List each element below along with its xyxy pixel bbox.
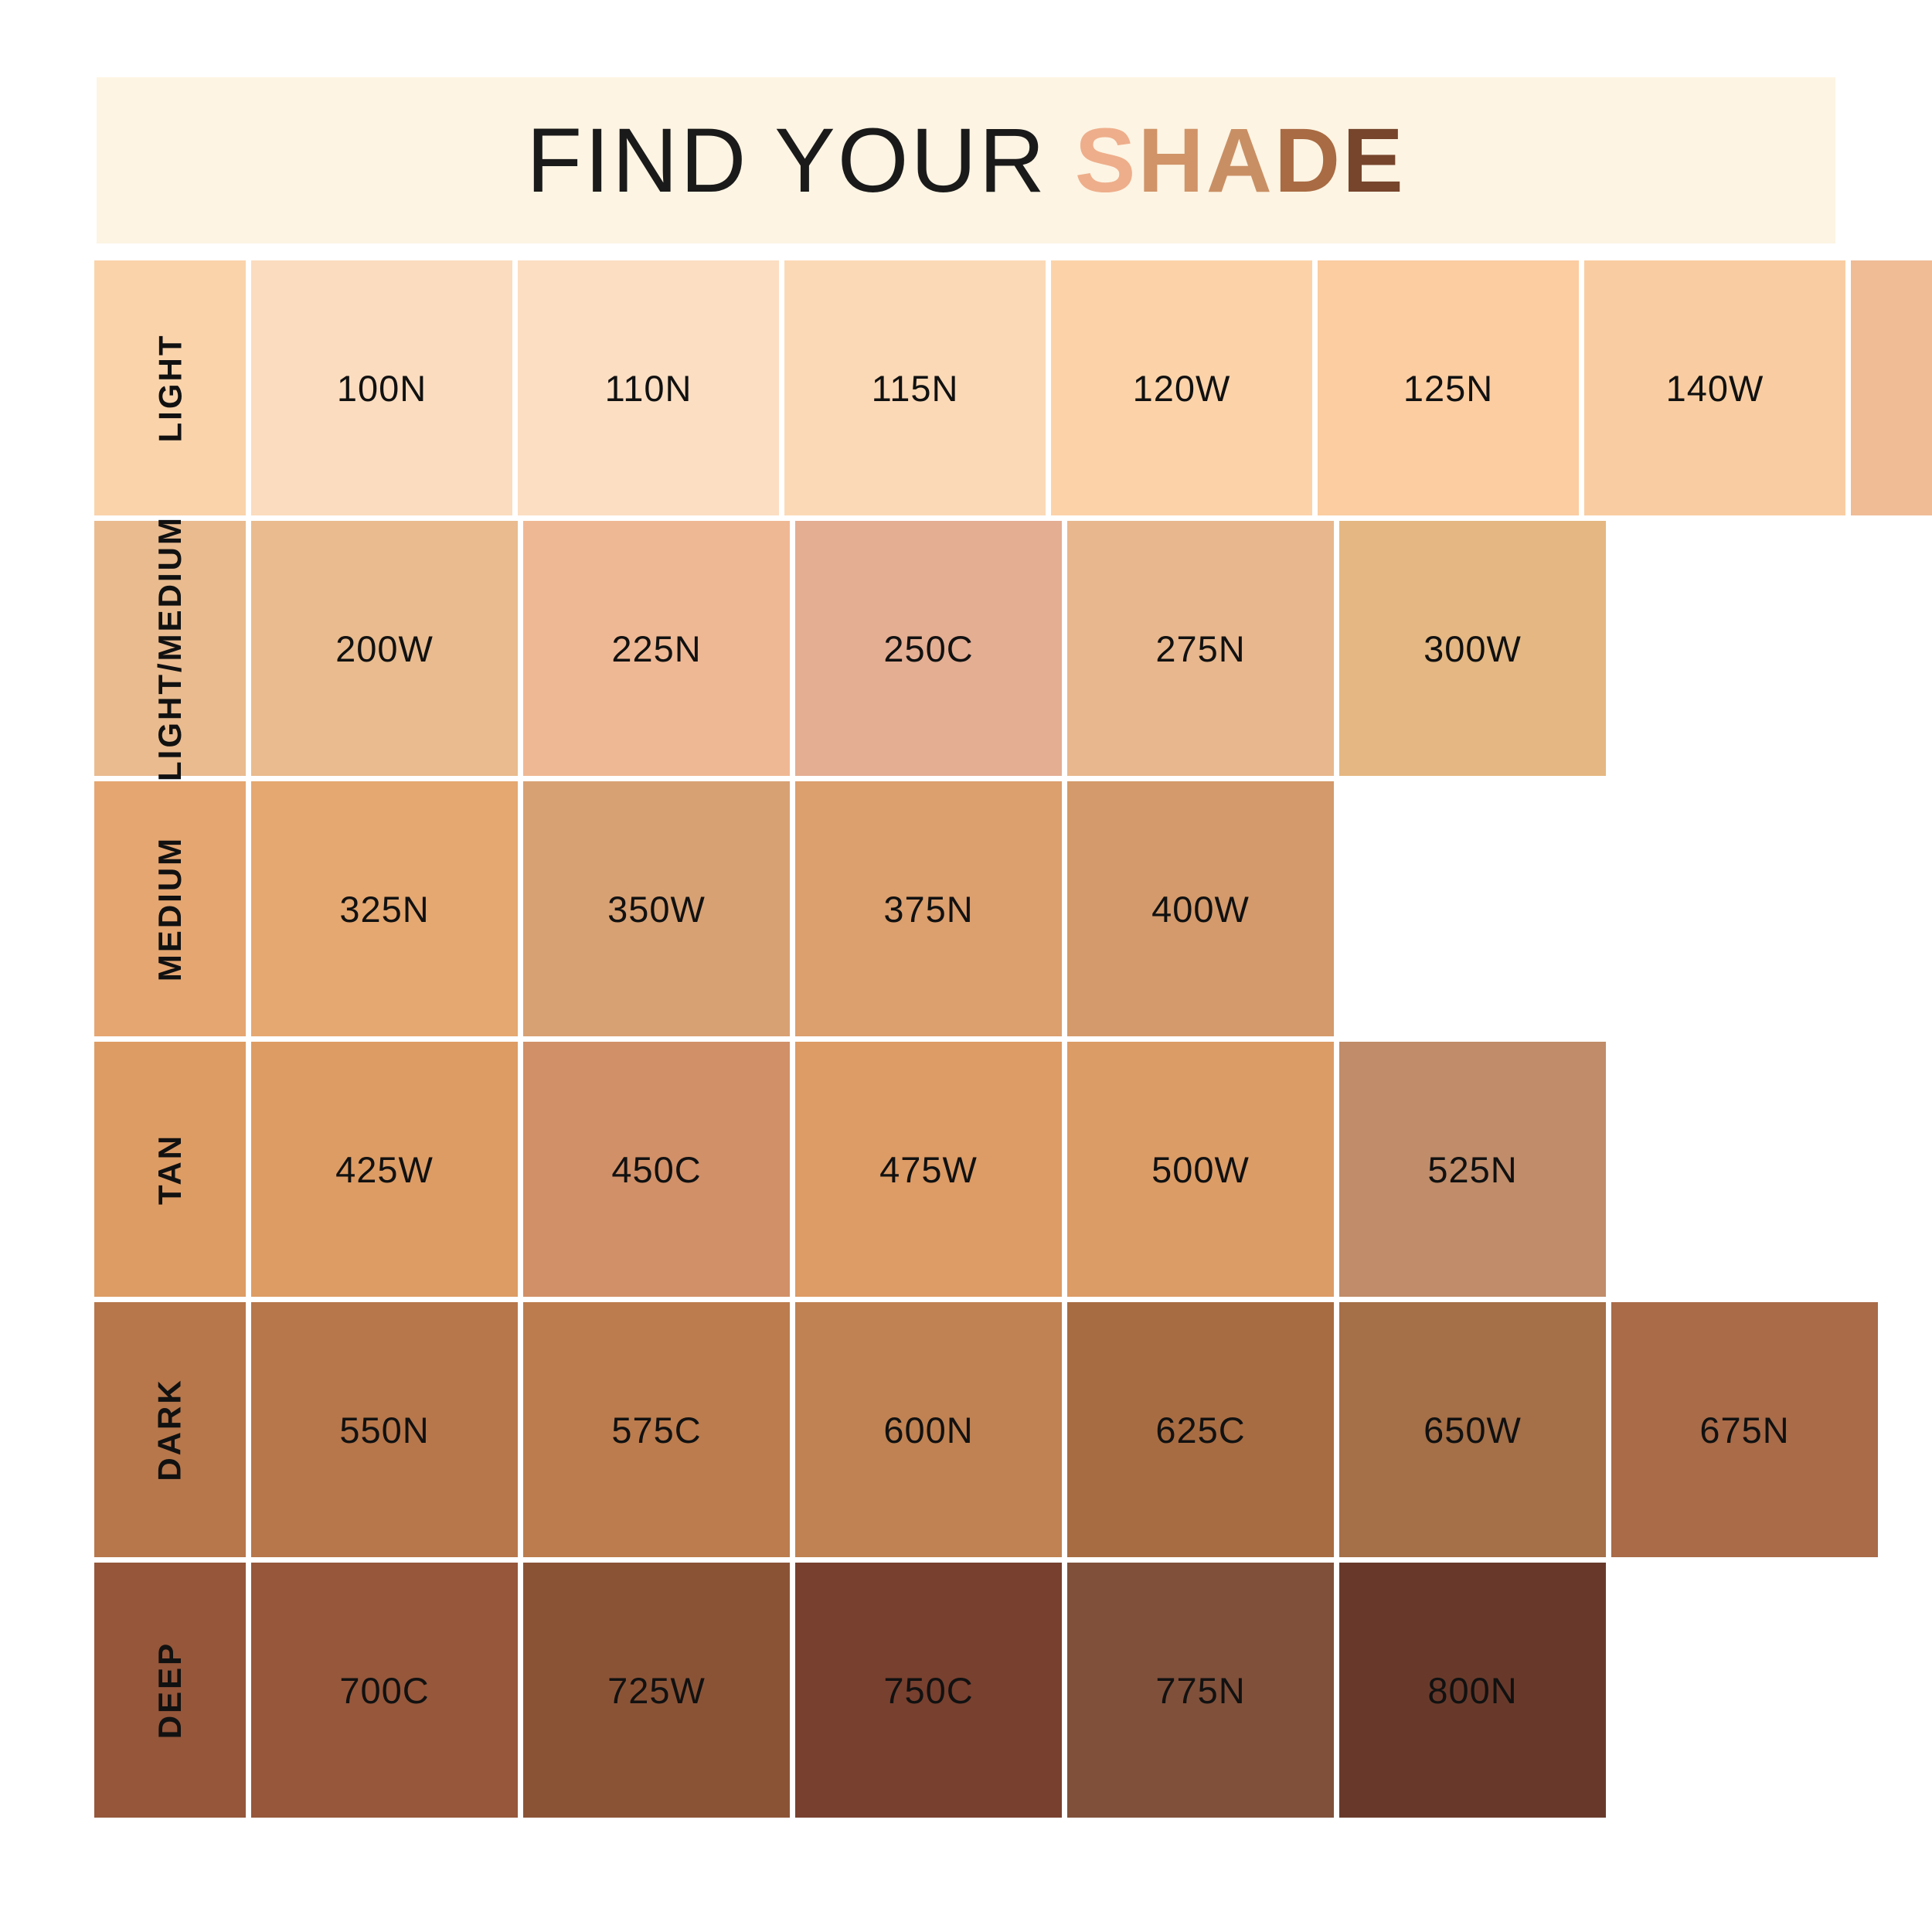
title-letter-d: D bbox=[1274, 110, 1342, 212]
shade-code: 425W bbox=[335, 1148, 434, 1191]
shade-swatch[interactable]: 775N bbox=[1067, 1563, 1334, 1818]
shade-code: 400W bbox=[1151, 888, 1250, 930]
shade-code: 140W bbox=[1666, 367, 1764, 410]
shade-code: 650W bbox=[1423, 1409, 1522, 1451]
shade-swatch[interactable]: 140W bbox=[1584, 260, 1845, 515]
shade-code: 625C bbox=[1155, 1409, 1245, 1451]
row-label-dark: DARK bbox=[94, 1302, 246, 1557]
shade-swatch[interactable]: 350W bbox=[523, 781, 790, 1036]
shade-row: TAN425W450C475W500W525N bbox=[94, 1042, 1932, 1297]
shade-code: 100N bbox=[337, 367, 427, 410]
shade-code: 225N bbox=[611, 628, 701, 670]
shade-code: 115N bbox=[872, 367, 959, 410]
shade-swatch[interactable]: 700C bbox=[251, 1563, 518, 1818]
shade-code: 750C bbox=[883, 1669, 973, 1712]
title-letter-e: E bbox=[1342, 110, 1406, 212]
shade-code: 600N bbox=[883, 1409, 973, 1451]
row-label-medium: MEDIUM bbox=[94, 781, 246, 1036]
shade-row: LIGHT100N110N115N120W125N140W150W175C bbox=[94, 260, 1932, 515]
shade-swatch[interactable]: 675N bbox=[1611, 1302, 1878, 1557]
shade-swatch[interactable]: 110N bbox=[518, 260, 779, 515]
row-label-text: DARK bbox=[151, 1378, 189, 1481]
shade-swatch[interactable]: 120W bbox=[1051, 260, 1312, 515]
shade-code: 125N bbox=[1403, 367, 1493, 410]
shade-swatch[interactable]: 425W bbox=[251, 1042, 518, 1297]
shade-swatch[interactable]: 475W bbox=[795, 1042, 1062, 1297]
shade-swatch[interactable]: 375N bbox=[795, 781, 1062, 1036]
title-letter-a: A bbox=[1206, 110, 1274, 212]
page-title-accent: SHADE bbox=[1075, 110, 1406, 212]
shade-code: 110N bbox=[605, 367, 692, 410]
shade-swatch[interactable]: 725W bbox=[523, 1563, 790, 1818]
shade-swatch[interactable]: 300W bbox=[1339, 521, 1606, 776]
row-label-text: TAN bbox=[151, 1134, 189, 1205]
shade-code: 525N bbox=[1427, 1148, 1517, 1191]
shade-swatch[interactable]: 450C bbox=[523, 1042, 790, 1297]
shade-code: 450C bbox=[611, 1148, 701, 1191]
shade-swatch[interactable]: 550N bbox=[251, 1302, 518, 1557]
shade-swatch[interactable]: 115N bbox=[784, 260, 1046, 515]
shade-code: 800N bbox=[1427, 1669, 1517, 1712]
shade-swatch[interactable]: 250C bbox=[795, 521, 1062, 776]
shade-code: 325N bbox=[339, 888, 429, 930]
shade-swatch[interactable]: 500W bbox=[1067, 1042, 1334, 1297]
shade-swatch[interactable]: 650W bbox=[1339, 1302, 1606, 1557]
shade-swatch[interactable]: 800N bbox=[1339, 1563, 1606, 1818]
shade-code: 120W bbox=[1133, 367, 1231, 410]
row-label-text: DEEP bbox=[151, 1641, 189, 1739]
shade-row: MEDIUM325N350W375N400W bbox=[94, 781, 1932, 1036]
title-letter-h: H bbox=[1138, 110, 1206, 212]
shade-code: 475W bbox=[879, 1148, 978, 1191]
shade-row: LIGHT/MEDIUM200W225N250C275N300W bbox=[94, 521, 1932, 776]
shade-row: DARK550N575C600N625C650W675N bbox=[94, 1302, 1932, 1557]
title-letter-s: S bbox=[1075, 110, 1138, 212]
shade-swatch[interactable]: 100N bbox=[251, 260, 512, 515]
page-title: FIND YOUR SHADE bbox=[526, 115, 1406, 206]
shade-grid: LIGHT100N110N115N120W125N140W150W175CLIG… bbox=[94, 260, 1932, 1823]
shade-code: 575C bbox=[611, 1409, 701, 1451]
title-banner: FIND YOUR SHADE bbox=[97, 77, 1835, 243]
shade-swatch[interactable]: 750C bbox=[795, 1563, 1062, 1818]
shade-code: 250C bbox=[883, 628, 973, 670]
row-label-text: LIGHT bbox=[151, 334, 189, 443]
shade-swatch[interactable]: 275N bbox=[1067, 521, 1334, 776]
shade-code: 375N bbox=[883, 888, 973, 930]
shade-chart-page: FIND YOUR SHADE LIGHT100N110N115N120W125… bbox=[0, 0, 1932, 1932]
shade-code: 200W bbox=[335, 628, 434, 670]
shade-swatch[interactable]: 625C bbox=[1067, 1302, 1334, 1557]
shade-swatch[interactable]: 525N bbox=[1339, 1042, 1606, 1297]
row-label-deep: DEEP bbox=[94, 1563, 246, 1818]
shade-swatch[interactable]: 125N bbox=[1318, 260, 1579, 515]
shade-swatch[interactable]: 400W bbox=[1067, 781, 1334, 1036]
shade-swatch[interactable]: 150W bbox=[1851, 260, 1932, 515]
row-label-light: LIGHT bbox=[94, 260, 246, 515]
shade-swatch[interactable]: 325N bbox=[251, 781, 518, 1036]
row-label-light-medium: LIGHT/MEDIUM bbox=[94, 521, 246, 776]
shade-code: 550N bbox=[339, 1409, 429, 1451]
shade-code: 775N bbox=[1155, 1669, 1245, 1712]
row-label-text: MEDIUM bbox=[151, 836, 189, 981]
shade-swatch[interactable]: 575C bbox=[523, 1302, 790, 1557]
shade-code: 500W bbox=[1151, 1148, 1250, 1191]
shade-code: 275N bbox=[1155, 628, 1245, 670]
shade-code: 725W bbox=[607, 1669, 706, 1712]
shade-swatch[interactable]: 225N bbox=[523, 521, 790, 776]
row-label-text: LIGHT/MEDIUM bbox=[151, 515, 189, 781]
shade-code: 700C bbox=[339, 1669, 429, 1712]
shade-row: DEEP700C725W750C775N800N bbox=[94, 1563, 1932, 1818]
shade-code: 675N bbox=[1699, 1409, 1789, 1451]
shade-swatch[interactable]: 600N bbox=[795, 1302, 1062, 1557]
row-label-tan: TAN bbox=[94, 1042, 246, 1297]
shade-swatch[interactable]: 200W bbox=[251, 521, 518, 776]
page-title-plain: FIND YOUR bbox=[526, 110, 1075, 212]
shade-code: 350W bbox=[607, 888, 706, 930]
shade-code: 300W bbox=[1423, 628, 1522, 670]
